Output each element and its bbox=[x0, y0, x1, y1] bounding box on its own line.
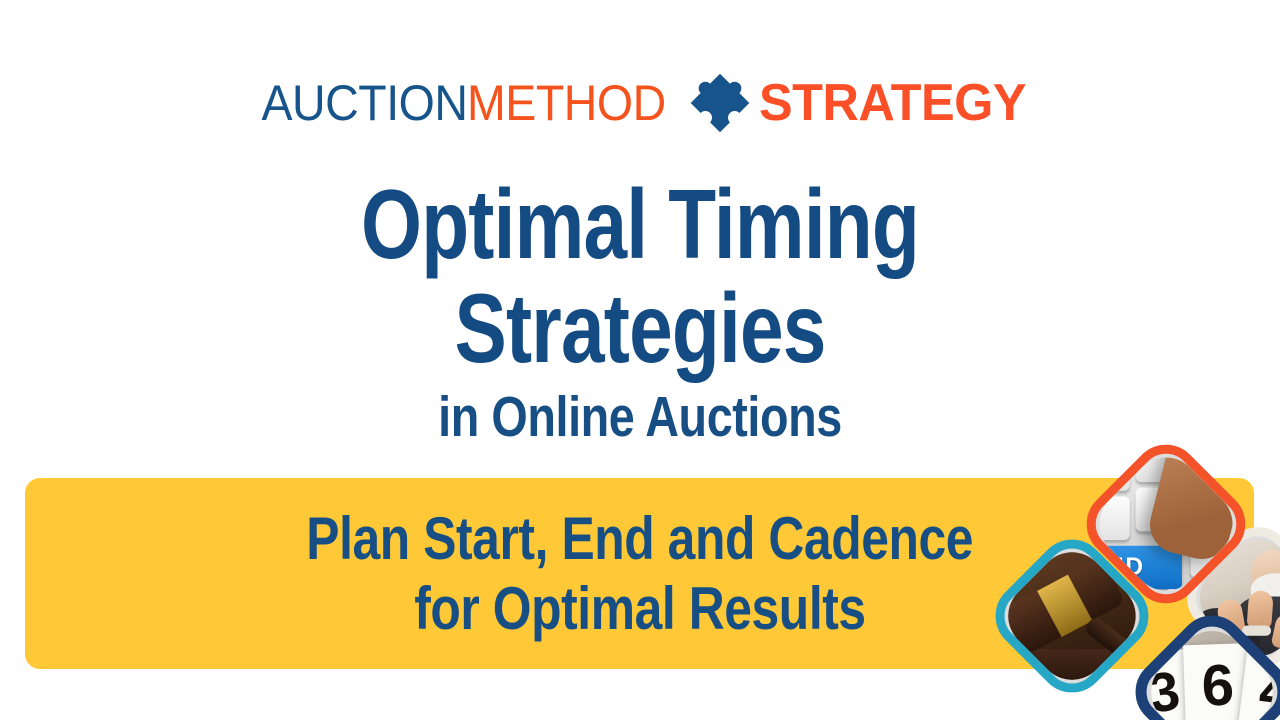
headline-line-2: Strategies bbox=[128, 276, 1152, 380]
brand-word-strategy: STRATEGY bbox=[759, 78, 1026, 128]
puzzle-piece-icon bbox=[681, 72, 759, 134]
headline-block: Optimal Timing Strategies in Online Auct… bbox=[0, 172, 1280, 450]
brand-word-method: METHOD bbox=[467, 78, 666, 128]
brand-logo: AUCTION METHOD STRATEGY bbox=[0, 72, 1280, 134]
photo-tile-cluster: BID 3 6 4 bbox=[980, 440, 1280, 720]
brand-word-auction: AUCTION bbox=[261, 78, 467, 128]
headline-line-1: Optimal Timing bbox=[128, 172, 1152, 276]
banner-line-1: Plan Start, End and Cadence bbox=[306, 504, 973, 574]
slide-canvas: AUCTION METHOD STRATEGY Optimal Timing S… bbox=[0, 0, 1280, 720]
banner-line-2: for Optimal Results bbox=[414, 574, 865, 644]
